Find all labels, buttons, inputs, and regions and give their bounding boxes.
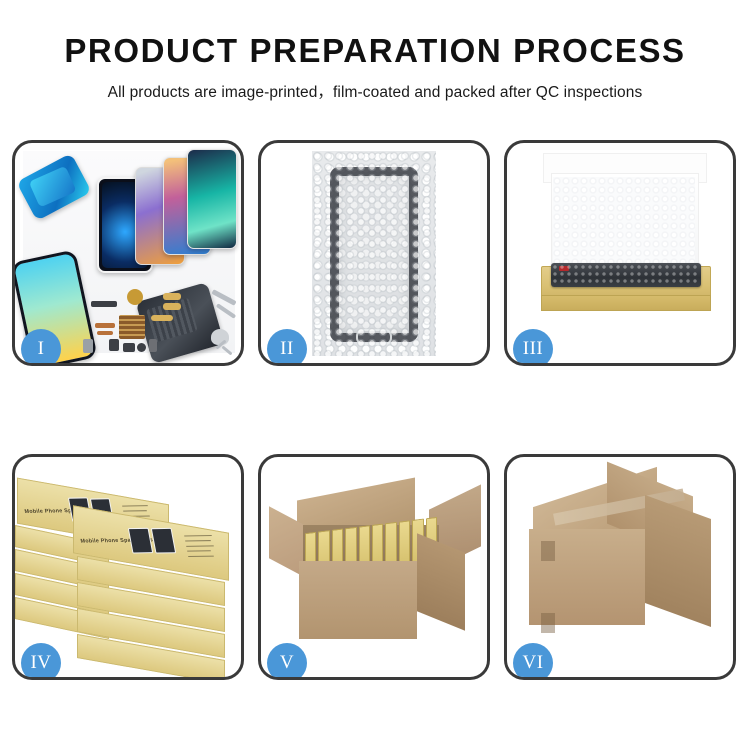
page-header: PRODUCT PREPARATION PROCESS All products…: [0, 0, 750, 102]
page-subtitle: All products are image-printed，film-coat…: [0, 80, 750, 102]
process-step-1[interactable]: I: [12, 140, 244, 366]
phone-teal-icon: [187, 149, 237, 249]
step-badge: I: [21, 329, 61, 366]
process-grid: I II III: [12, 140, 738, 680]
step-badge: VI: [513, 643, 553, 680]
step-badge: II: [267, 329, 307, 366]
process-step-6[interactable]: VI: [504, 454, 736, 680]
process-step-4[interactable]: Mobile Phone Spare Parts Mobile Phone Sp…: [12, 454, 244, 680]
step-badge: IV: [21, 643, 61, 680]
process-step-5[interactable]: V: [258, 454, 490, 680]
step-badge: III: [513, 329, 553, 366]
process-step-3[interactable]: III: [504, 140, 736, 366]
step-badge: V: [267, 643, 307, 680]
page-title: PRODUCT PREPARATION PROCESS: [0, 34, 750, 69]
process-step-2[interactable]: II: [258, 140, 490, 366]
